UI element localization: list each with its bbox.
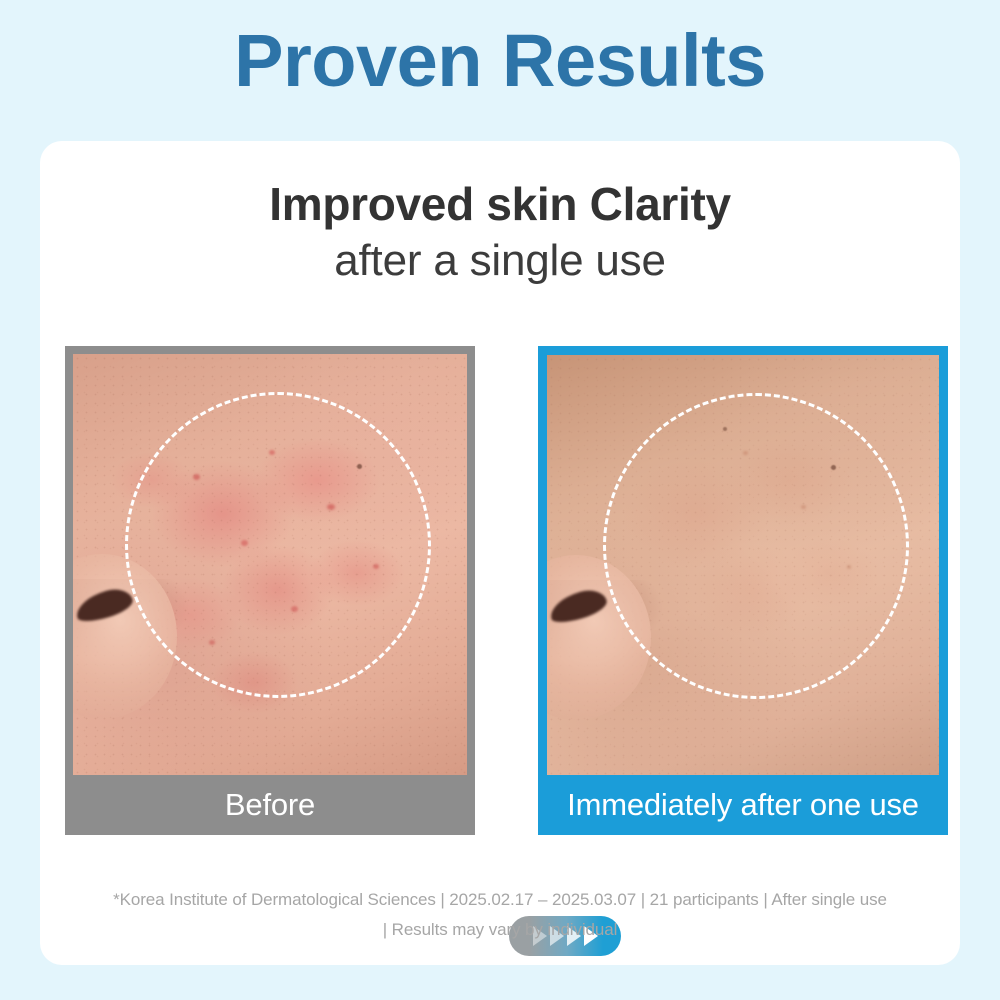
before-highlight-circle <box>125 392 431 698</box>
after-highlight-circle <box>603 393 909 699</box>
results-card: Improved skin Clarity after a single use <box>40 141 960 965</box>
footnote-line-2: | Results may vary by individual <box>40 915 960 945</box>
study-footnote: *Korea Institute of Dermatological Scien… <box>40 885 960 945</box>
before-panel[interactable]: Before <box>65 346 475 835</box>
after-panel[interactable]: Immediately after one use <box>538 346 948 835</box>
before-caption: Before <box>65 775 475 835</box>
before-caption-label: Before <box>225 787 315 823</box>
before-after-comparison: Before <box>65 346 935 835</box>
promo-stage: Proven Results Improved skin Clarity aft… <box>0 0 1000 1000</box>
after-caption: Immediately after one use <box>538 775 948 835</box>
footnote-line-1: *Korea Institute of Dermatological Scien… <box>40 885 960 915</box>
after-caption-label: Immediately after one use <box>567 787 919 823</box>
subtitle-line-1: Improved skin Clarity <box>40 177 960 231</box>
page-title: Proven Results <box>0 22 1000 100</box>
before-photo <box>73 354 467 775</box>
subtitle-block: Improved skin Clarity after a single use <box>40 177 960 288</box>
after-photo <box>547 355 939 775</box>
subtitle-line-2: after a single use <box>40 235 960 288</box>
